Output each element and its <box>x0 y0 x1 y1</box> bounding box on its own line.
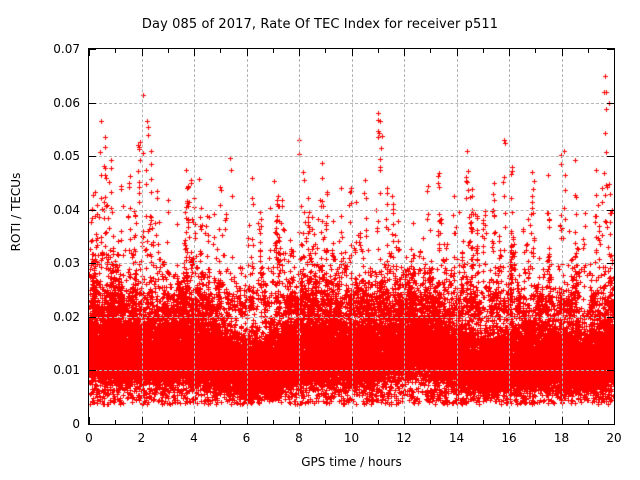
gridline-vertical <box>194 49 195 424</box>
x-axis-tick <box>562 49 563 56</box>
x-axis-tick <box>194 49 195 56</box>
x-axis-tick <box>142 417 143 424</box>
y-axis-tick <box>607 49 614 50</box>
y-axis-tick-label: 0.01 <box>0 363 80 377</box>
x-axis-minor-tick <box>430 49 431 53</box>
plot-area <box>88 48 615 425</box>
y-axis-tick-label: 0.02 <box>0 310 80 324</box>
x-axis-minor-tick <box>325 420 326 424</box>
y-axis-tick <box>89 49 96 50</box>
y-axis-tick <box>607 370 614 371</box>
x-axis-tick <box>614 417 615 424</box>
x-axis-minor-tick <box>220 49 221 53</box>
x-axis-minor-tick <box>115 420 116 424</box>
y-axis-tick <box>89 210 96 211</box>
y-axis-tick <box>89 263 96 264</box>
y-axis-tick <box>89 370 96 371</box>
gridline-vertical <box>299 49 300 424</box>
x-axis-tick <box>404 417 405 424</box>
y-axis-tick <box>607 317 614 318</box>
y-axis-tick-label: 0.04 <box>0 203 80 217</box>
x-axis-minor-tick <box>325 49 326 53</box>
gridline-vertical <box>457 49 458 424</box>
x-axis-tick <box>247 417 248 424</box>
x-axis-tick <box>614 49 615 56</box>
x-axis-tick-label: 16 <box>501 431 516 445</box>
y-axis-tick-label: 0.03 <box>0 256 80 270</box>
x-axis-tick-label: 20 <box>606 431 621 445</box>
x-axis-tick <box>509 49 510 56</box>
x-axis-minor-tick <box>535 420 536 424</box>
x-axis-minor-tick <box>378 420 379 424</box>
x-axis-minor-tick <box>430 420 431 424</box>
x-axis-tick <box>89 417 90 424</box>
x-axis-tick <box>194 417 195 424</box>
y-axis-tick <box>607 103 614 104</box>
chart-page: Day 085 of 2017, Rate Of TEC Index for r… <box>0 0 640 480</box>
x-axis-minor-tick <box>168 49 169 53</box>
x-axis-tick-label: 4 <box>190 431 198 445</box>
x-axis-minor-tick <box>588 49 589 53</box>
x-axis-tick-label: 14 <box>449 431 464 445</box>
y-axis-tick-label: 0 <box>0 417 80 431</box>
y-axis-tick-label: 0.07 <box>0 42 80 56</box>
x-axis-title: GPS time / hours <box>88 455 615 469</box>
y-axis-tick <box>607 424 614 425</box>
x-axis-tick <box>299 417 300 424</box>
x-axis-tick <box>562 417 563 424</box>
x-axis-minor-tick <box>220 420 221 424</box>
x-axis-minor-tick <box>168 420 169 424</box>
y-axis-tick-label: 0.05 <box>0 149 80 163</box>
x-axis-tick <box>89 49 90 56</box>
x-axis-tick <box>299 49 300 56</box>
x-axis-minor-tick <box>588 420 589 424</box>
page-title: Day 085 of 2017, Rate Of TEC Index for r… <box>0 17 640 32</box>
y-axis-tick <box>607 263 614 264</box>
x-axis-minor-tick <box>483 49 484 53</box>
x-axis-tick-label: 8 <box>295 431 303 445</box>
x-axis-tick-label: 2 <box>138 431 146 445</box>
x-axis-tick <box>352 49 353 56</box>
x-axis-tick-label: 18 <box>554 431 569 445</box>
gridline-vertical <box>562 49 563 424</box>
y-axis-tick <box>607 210 614 211</box>
gridline-vertical <box>247 49 248 424</box>
x-axis-tick <box>247 49 248 56</box>
y-axis-tick <box>89 156 96 157</box>
y-axis-tick <box>607 156 614 157</box>
x-axis-tick <box>457 417 458 424</box>
x-axis-tick-label: 0 <box>85 431 93 445</box>
x-axis-minor-tick <box>483 420 484 424</box>
x-axis-tick-label: 12 <box>396 431 411 445</box>
x-axis-minor-tick <box>115 49 116 53</box>
gridline-vertical <box>352 49 353 424</box>
x-axis-tick <box>404 49 405 56</box>
gridline-vertical <box>509 49 510 424</box>
y-axis-tick <box>89 317 96 318</box>
x-axis-minor-tick <box>273 49 274 53</box>
x-axis-tick-label: 6 <box>243 431 251 445</box>
x-axis-tick-label: 10 <box>344 431 359 445</box>
x-axis-tick <box>352 417 353 424</box>
x-axis-tick <box>509 417 510 424</box>
x-axis-minor-tick <box>535 49 536 53</box>
gridline-vertical <box>404 49 405 424</box>
x-axis-minor-tick <box>273 420 274 424</box>
x-axis-minor-tick <box>378 49 379 53</box>
y-axis-tick <box>89 424 96 425</box>
gridline-vertical <box>142 49 143 424</box>
x-axis-tick <box>457 49 458 56</box>
x-axis-tick <box>142 49 143 56</box>
y-axis-tick <box>89 103 96 104</box>
y-axis-tick-label: 0.06 <box>0 96 80 110</box>
